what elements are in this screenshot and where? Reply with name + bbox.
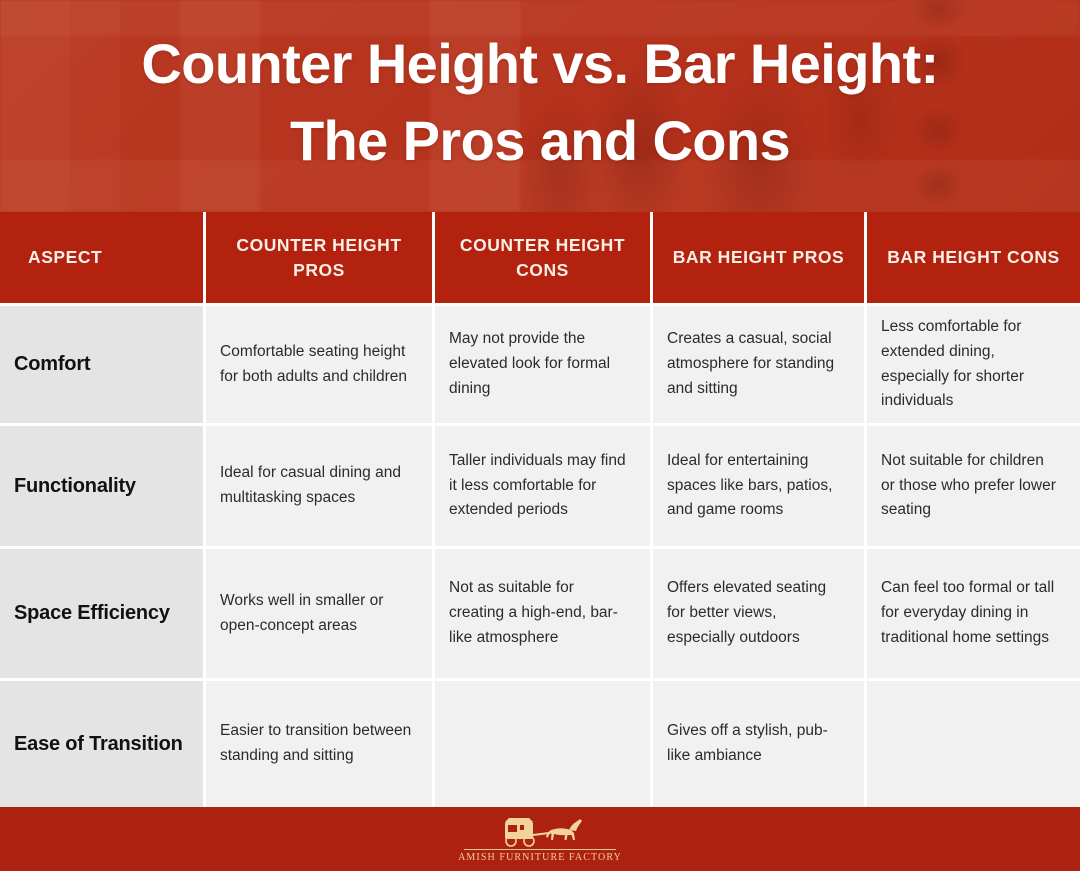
hero-banner: Counter Height vs. Bar Height: The Pros … [0,0,1080,212]
row-aspect-label: Functionality [0,426,206,546]
cell-bar-height-pros: Offers elevated seating for better views… [653,549,867,678]
aspect-text: Comfort [14,350,90,379]
cell-text: Easier to transition between standing an… [220,719,412,769]
cell-bar-height-cons: Not suitable for children or those who p… [867,426,1080,546]
column-header-label: COUNTER HEIGHT CONS [451,233,634,283]
column-header-label: COUNTER HEIGHT PROS [222,233,416,283]
cell-text: Can feel too formal or tall for everyday… [881,576,1060,650]
row-aspect-label: Space Efficiency [0,549,206,678]
cell-text: Works well in smaller or open-concept ar… [220,589,412,639]
logo-divider [464,849,616,850]
table-row: Ease of Transition Easier to transition … [0,678,1080,807]
aspect-text: Space Efficiency [14,599,170,628]
column-header-label: BAR HEIGHT PROS [673,245,845,270]
cell-counter-height-pros: Ideal for casual dining and multitasking… [206,426,435,546]
aspect-text: Functionality [14,472,136,501]
aspect-text: Ease of Transition [14,730,183,759]
footer-bar: Amish Furniture Factory [0,807,1080,871]
page-title: Counter Height vs. Bar Height: The Pros … [0,0,1080,179]
column-header-counter-height-pros: COUNTER HEIGHT PROS [206,212,435,303]
column-header-bar-height-cons: BAR HEIGHT CONS [867,212,1080,303]
row-aspect-label: Comfort [0,306,206,423]
column-header-counter-height-cons: COUNTER HEIGHT CONS [435,212,653,303]
brand-logo[interactable]: Amish Furniture Factory [460,816,620,863]
comparison-table: ASPECT COUNTER HEIGHT PROS COUNTER HEIGH… [0,212,1080,807]
cell-text: Less comfortable for extended dining, es… [881,315,1060,414]
column-header-bar-height-pros: BAR HEIGHT PROS [653,212,867,303]
column-header-aspect: ASPECT [0,212,206,303]
cell-counter-height-cons: Taller individuals may find it less comf… [435,426,653,546]
cell-bar-height-pros: Gives off a stylish, pub-like ambiance [653,681,867,807]
table-row: Functionality Ideal for casual dining an… [0,423,1080,546]
cell-text: Gives off a stylish, pub-like ambiance [667,719,844,769]
column-header-label: ASPECT [28,245,102,270]
cell-text: Comfortable seating height for both adul… [220,340,412,390]
cell-counter-height-pros: Works well in smaller or open-concept ar… [206,549,435,678]
page-title-line-1: Counter Height vs. Bar Height: [0,26,1080,103]
cell-text: Taller individuals may find it less comf… [449,449,630,523]
cell-text: Creates a casual, social atmosphere for … [667,327,844,401]
cell-counter-height-pros: Easier to transition between standing an… [206,681,435,807]
horse-and-buggy-icon [485,816,595,848]
table-row: Space Efficiency Works well in smaller o… [0,546,1080,678]
cell-text: Not as suitable for creating a high-end,… [449,576,630,650]
cell-counter-height-cons: May not provide the elevated look for fo… [435,306,653,423]
cell-bar-height-cons: Less comfortable for extended dining, es… [867,306,1080,423]
table-header-row: ASPECT COUNTER HEIGHT PROS COUNTER HEIGH… [0,212,1080,303]
cell-text: Offers elevated seating for better views… [667,576,844,650]
cell-text: Ideal for casual dining and multitasking… [220,461,412,511]
cell-text: Ideal for entertaining spaces like bars,… [667,449,844,523]
cell-bar-height-pros: Ideal for entertaining spaces like bars,… [653,426,867,546]
cell-counter-height-pros: Comfortable seating height for both adul… [206,306,435,423]
cell-text: Not suitable for children or those who p… [881,449,1060,523]
cell-bar-height-cons: Can feel too formal or tall for everyday… [867,549,1080,678]
cell-bar-height-pros: Creates a casual, social atmosphere for … [653,306,867,423]
brand-name: Amish Furniture Factory [458,852,622,863]
row-aspect-label: Ease of Transition [0,681,206,807]
infographic-root: Counter Height vs. Bar Height: The Pros … [0,0,1080,876]
cell-bar-height-cons [867,681,1080,807]
page-title-line-2: The Pros and Cons [0,103,1080,180]
table-row: Comfort Comfortable seating height for b… [0,303,1080,423]
column-header-label: BAR HEIGHT CONS [887,245,1060,270]
cell-counter-height-cons [435,681,653,807]
cell-counter-height-cons: Not as suitable for creating a high-end,… [435,549,653,678]
cell-text: May not provide the elevated look for fo… [449,327,630,401]
